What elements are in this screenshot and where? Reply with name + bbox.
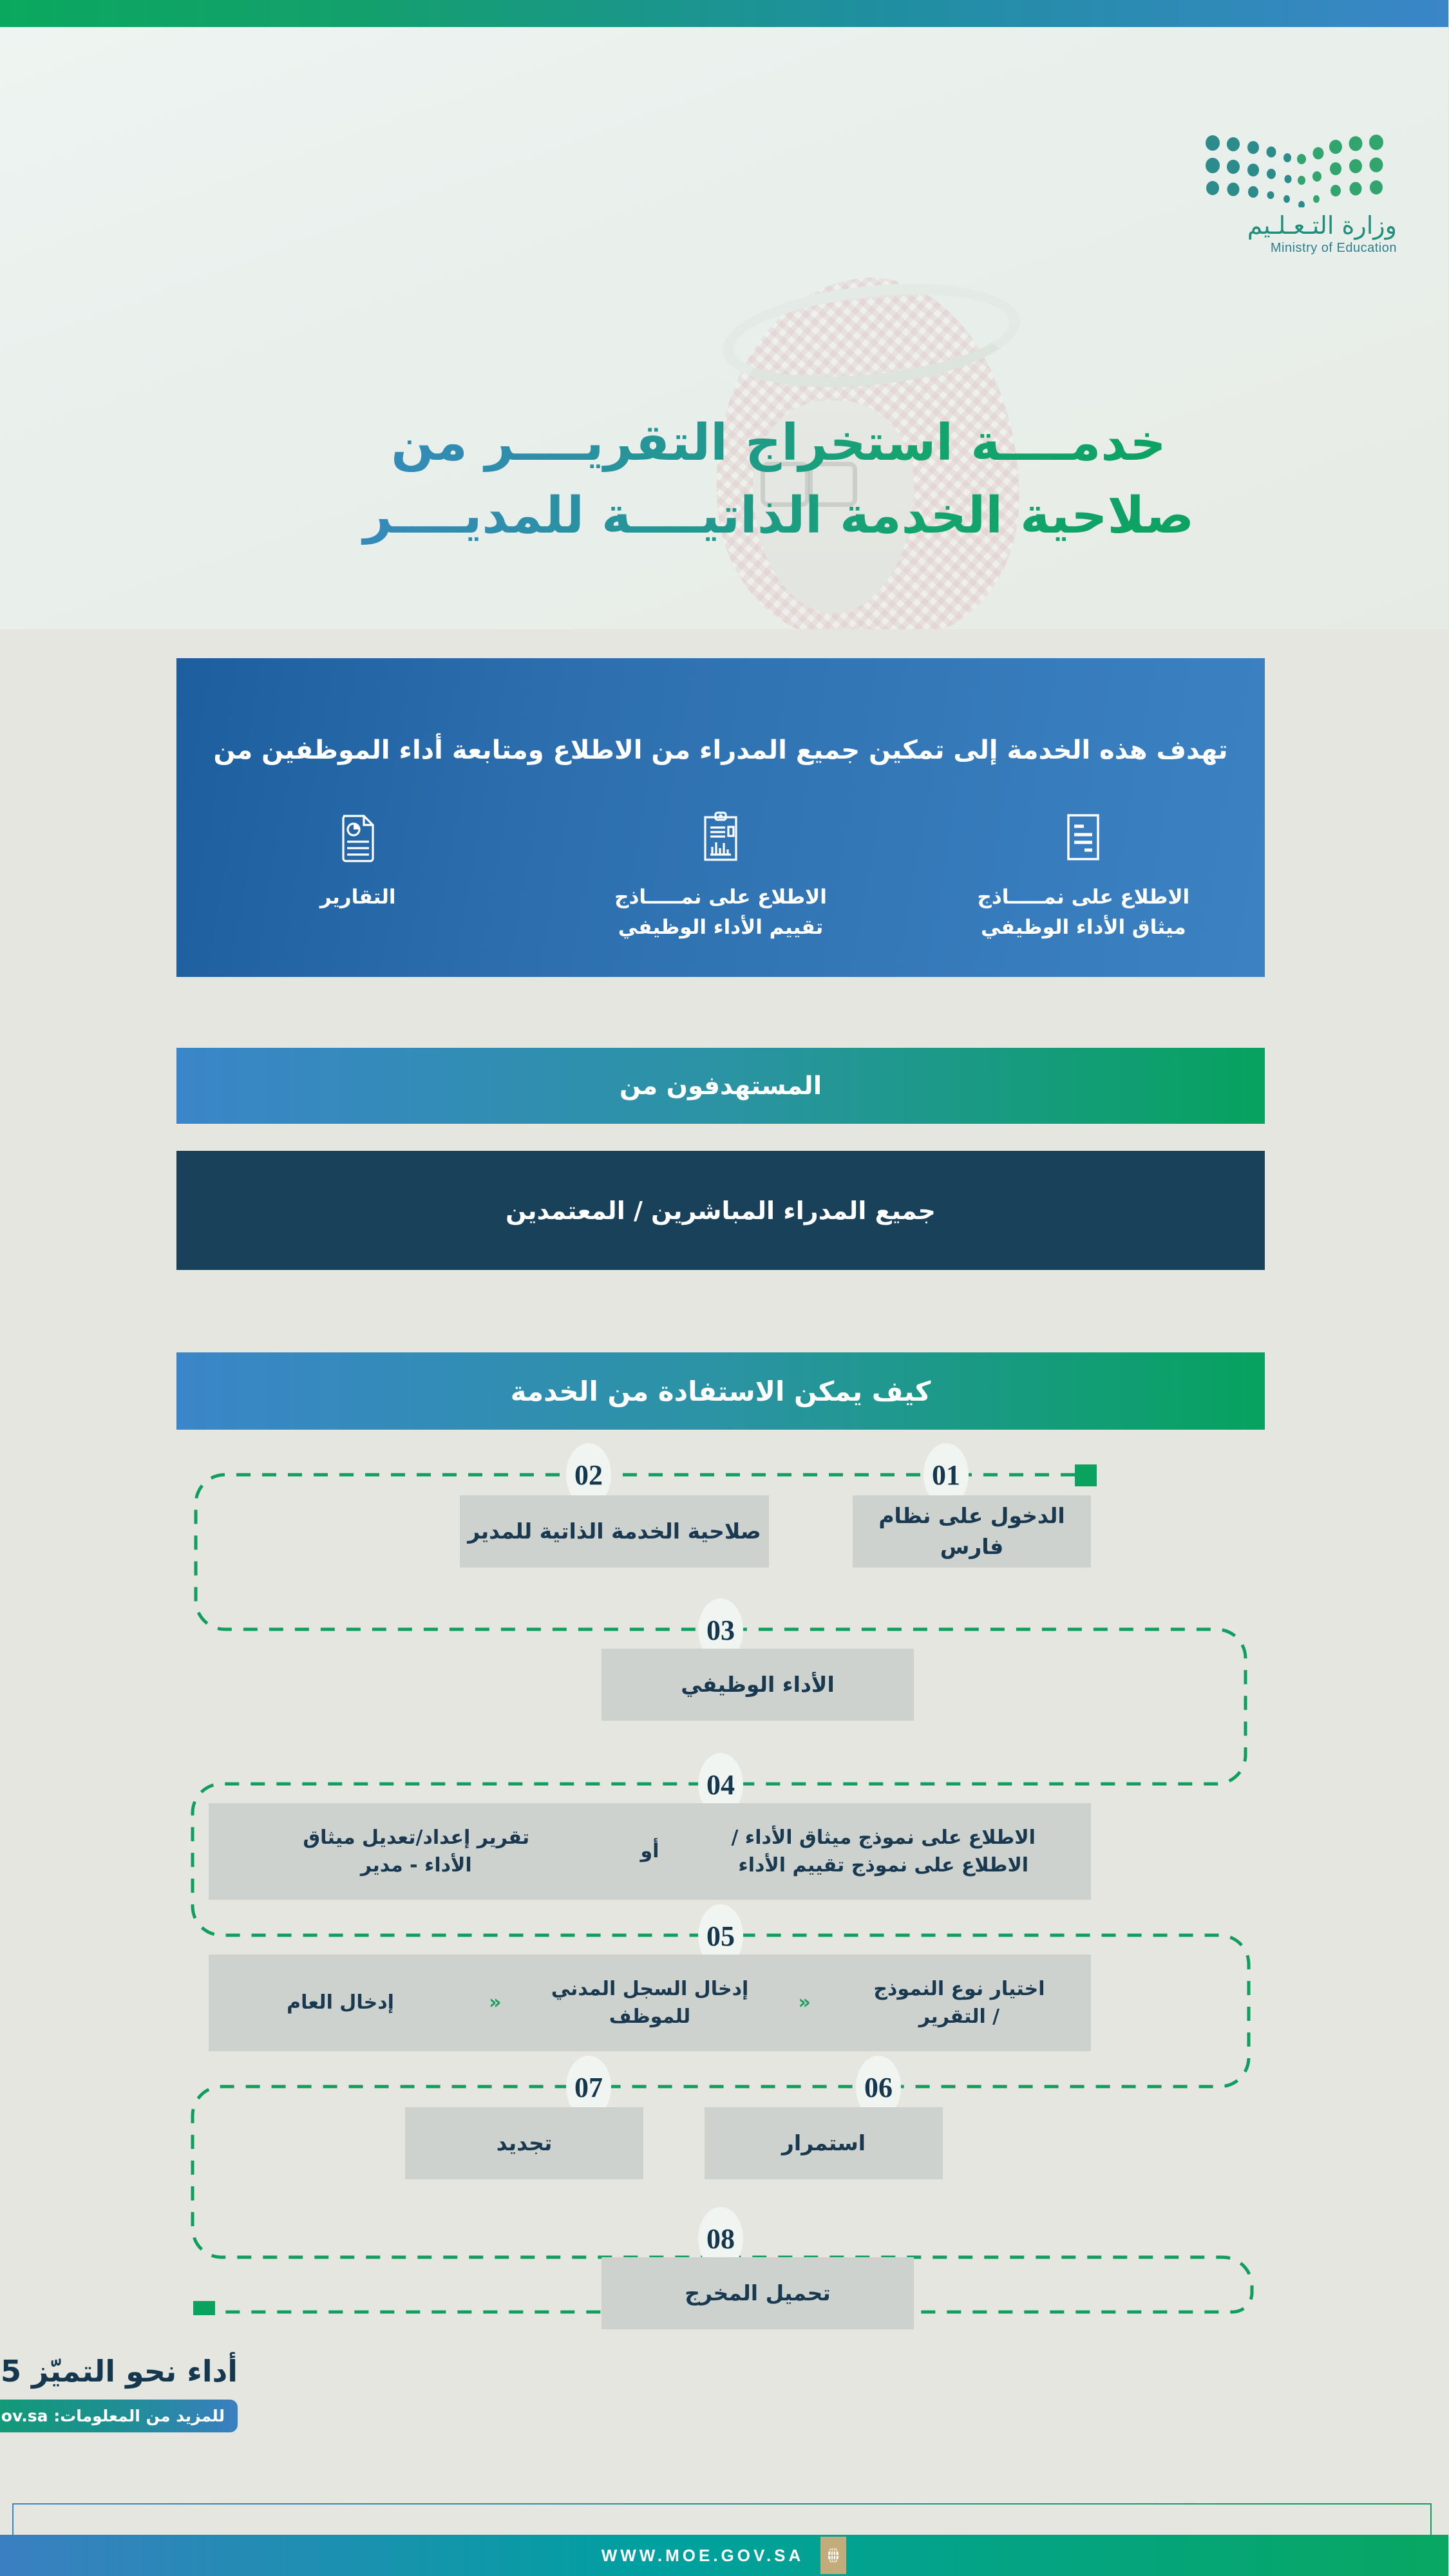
purpose-item: التقارير (177, 803, 540, 942)
purpose-item-label: الاطلاع على نمـــــاذج ميثاق الأداء الوظ… (903, 882, 1265, 942)
process-flow: 01 الدخول على نظام فارس 02 صلاحية الخدمة… (177, 1455, 1265, 2315)
purpose-card: تهدف هذه الخدمة إلى تمكين جميع المدراء م… (177, 658, 1265, 977)
page-title: خدمــــة استخراج التقريــــر من صلاحية ا… (225, 407, 1333, 553)
clipboard-chart-icon (540, 803, 902, 871)
hero-header: وزارة التـعـلـيم Ministry of Education خ… (0, 27, 1449, 629)
step-05-segment-a: إدخال العام (209, 1989, 473, 2017)
report-piechart-icon (177, 803, 540, 871)
moe-dots-logo-icon (1204, 130, 1397, 207)
flow-start-marker (1075, 1464, 1097, 1486)
step-04-segment-a: تقرير إعداد/تعديل ميثاق الأداء - مدير (209, 1824, 625, 1880)
audience-header: المستهدفون من (177, 1048, 1265, 1124)
step-box-01[interactable]: الدخول على نظام فارس (853, 1495, 1092, 1567)
step-05-segment-b: إدخال السجل المدني للموظف (518, 1975, 782, 2031)
page-title-line-1: خدمــــة استخراج التقريــــر من (225, 407, 1333, 480)
step-box-02[interactable]: صلاحية الخدمة الذاتية للمدير (460, 1495, 770, 1567)
how-to-header: كيف يمكن الاستفادة من الخدمة (177, 1352, 1265, 1430)
purpose-item-label: الاطلاع على نمـــــاذج تقييم الأداء الوظ… (540, 882, 902, 942)
step-05-segment-c: اختيار نوع النموذج / التقرير (828, 1975, 1092, 2031)
globe-icon (821, 2537, 847, 2574)
step-04-separator: أو (625, 1837, 677, 1866)
step-05-separator: « (473, 1989, 518, 2017)
step-04-segment-b: الاطلاع على نموذج ميثاق الأداء / الاطلاع… (676, 1824, 1092, 1880)
purpose-item: الاطلاع على نمـــــاذج تقييم الأداء الوظ… (540, 803, 902, 942)
page-title-line-2: صلاحية الخدمة الذاتيــــة للمديــــر (225, 480, 1333, 553)
top-accent-bar (0, 0, 1449, 27)
step-box-08[interactable]: تحميل المخرج (602, 2257, 914, 2329)
step-05-separator: « (782, 1989, 828, 2017)
footer-title: أداء نحو التميّز 2025 (0, 2354, 238, 2389)
step-box-05[interactable]: اختيار نوع النموذج / التقرير « إدخال الس… (209, 1955, 1092, 2051)
footer-contact-badge[interactable]: للمزيد من المعلومات: PM@moe.gov.sa (0, 2400, 238, 2432)
flow-end-marker (194, 2301, 216, 2315)
purpose-item-label: التقارير (177, 882, 540, 913)
logo-arabic-text: وزارة التـعـلـيم (1204, 211, 1397, 240)
purpose-item-list: الاطلاع على نمـــــاذج ميثاق الأداء الوظ… (177, 803, 1265, 942)
step-box-06[interactable]: استمرار (705, 2107, 943, 2179)
purpose-description: تهدف هذه الخدمة إلى تمكين جميع المدراء م… (177, 735, 1265, 765)
bottom-bar: WWW.MOE.GOV.SA (0, 2535, 1449, 2576)
step-box-07[interactable]: تجديد (406, 2107, 644, 2179)
audience-body: جميع المدراء المباشرين / المعتمدين (177, 1151, 1265, 1270)
step-box-03[interactable]: الأداء الوظيفي (602, 1649, 914, 1721)
document-lines-icon (903, 803, 1265, 871)
purpose-item: الاطلاع على نمـــــاذج ميثاق الأداء الوظ… (903, 803, 1265, 942)
website-url[interactable]: WWW.MOE.GOV.SA (602, 2546, 805, 2566)
logo-english-text: Ministry of Education (1204, 241, 1397, 256)
ministry-logo: وزارة التـعـلـيم Ministry of Education (1204, 130, 1397, 246)
step-box-04[interactable]: الاطلاع على نموذج ميثاق الأداء / الاطلاع… (209, 1803, 1092, 1900)
decorative-frame (13, 2503, 1432, 2537)
